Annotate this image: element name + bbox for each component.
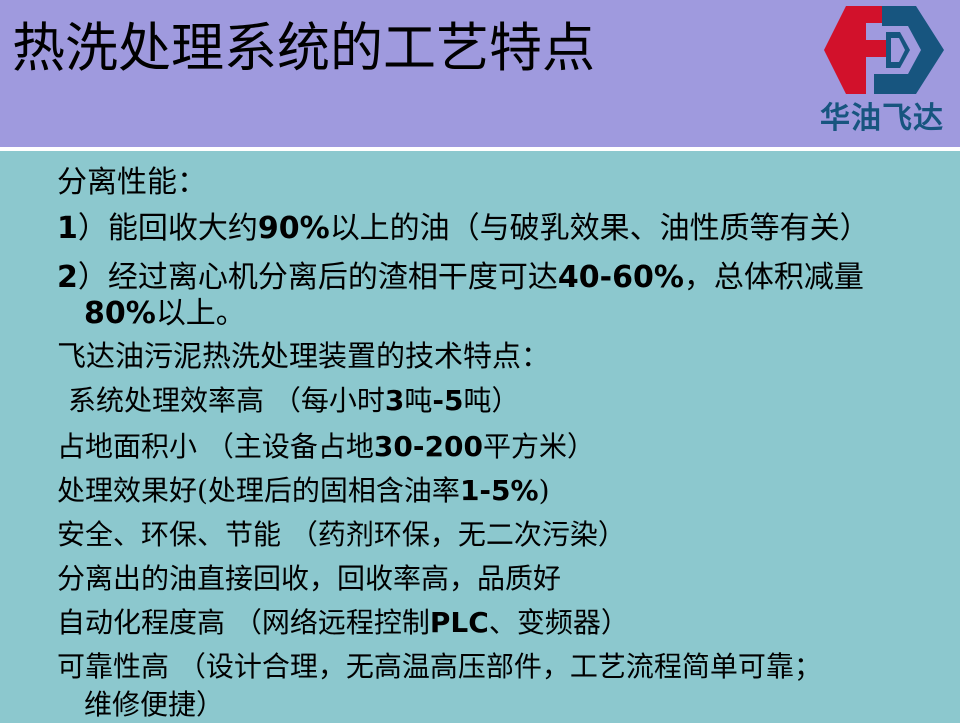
text-line-feature-reliability: 可靠性高 （设计合理，无高温高压部件，工艺流程简单可靠；: [57, 645, 822, 685]
fd-hexagon-logo-icon: [820, 4, 948, 96]
company-logo: 华油飞达: [812, 4, 952, 139]
text-line-feature-throughput: 系统处理效率高 （每小时3吨-5吨）: [68, 379, 520, 419]
inline-value: 3: [385, 384, 404, 417]
inline-value: 1-5%: [460, 474, 539, 507]
inline-value: PLC: [430, 606, 489, 639]
text-line-heading-feida-tech-features: 飞达油污泥热洗处理装置的技术特点：: [57, 333, 550, 375]
page-title: 热洗处理系统的工艺特点: [12, 9, 772, 89]
inline-value: 30-200: [374, 430, 483, 463]
inline-value: -5: [432, 384, 463, 417]
text-line-item-1-oil-recovery: 1）能回收大约90%以上的油（与破乳效果、油性质等有关）: [57, 203, 870, 247]
logo-wordmark: 华油飞达: [812, 99, 952, 139]
slide-body: 分离性能：1）能回收大约90%以上的油（与破乳效果、油性质等有关）2）经过离心机…: [0, 151, 960, 720]
text-line-feature-reliability-continued: 维修便捷）: [84, 683, 224, 723]
text-line-heading-separation-performance: 分离性能：: [57, 157, 207, 201]
text-line-feature-footprint: 占地面积小 （主设备占地30-200平方米）: [57, 425, 595, 465]
text-line-feature-safety-environment: 安全、环保、节能 （药剂环保，无二次污染）: [57, 513, 626, 553]
text-line-feature-treatment-effect: 处理效果好(处理后的固相含油率1-5%): [57, 469, 550, 509]
text-line-item-2-continued: 80%以上。: [84, 288, 246, 332]
inline-value: 80%: [84, 296, 156, 331]
inline-value: 2: [57, 260, 78, 295]
inline-value: 90%: [258, 211, 330, 246]
text-line-feature-automation: 自动化程度高 （网络远程控制PLC、变频器）: [57, 601, 629, 641]
text-line-feature-oil-recovery-quality: 分离出的油直接回收，回收率高，品质好: [57, 557, 561, 597]
inline-value: 1: [57, 211, 78, 246]
inline-value: 40-60%: [558, 260, 684, 295]
slide-root: 热洗处理系统的工艺特点 华油飞达 分离性能：1）能回收大约90%以上的油（与破乳…: [0, 0, 960, 720]
